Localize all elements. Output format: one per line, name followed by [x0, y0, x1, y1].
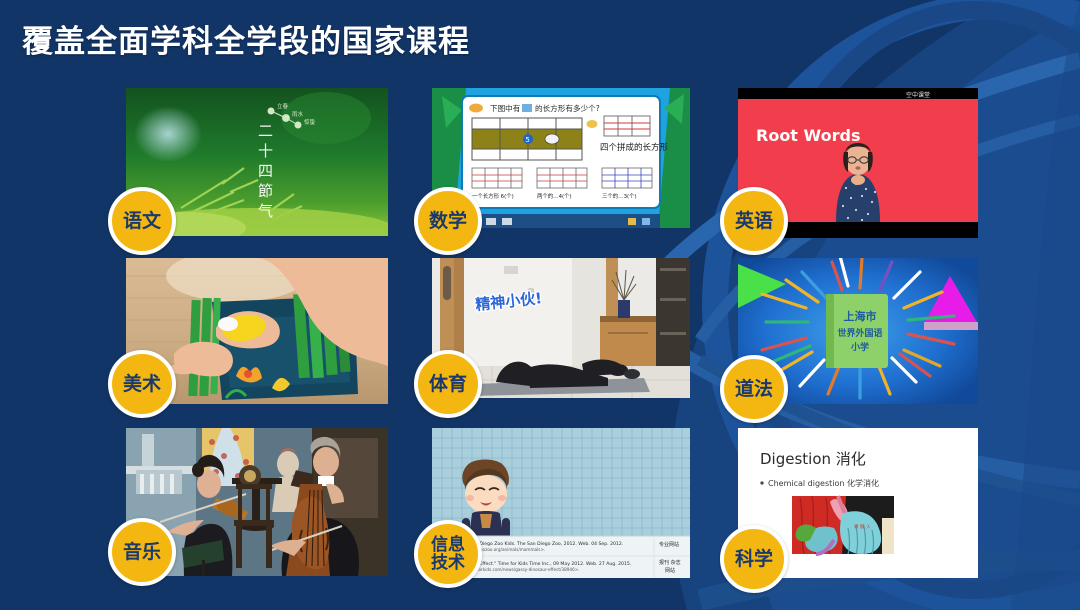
badge-label: 道法: [732, 379, 776, 399]
svg-text:三个的…3(个): 三个的…3(个): [602, 192, 637, 200]
badge-tiyu[interactable]: 体育: [414, 350, 482, 418]
svg-text:上海市: 上海市: [844, 309, 877, 323]
svg-text:立春: 立春: [277, 102, 289, 110]
svg-text:胃 酵 入: 胃 酵 入: [854, 524, 871, 530]
badge-label: 科学: [732, 549, 776, 569]
slide-canvas: 覆盖全面学科全学段的国家课程: [0, 0, 1080, 610]
badge-yinyue[interactable]: 音乐: [108, 518, 176, 586]
svg-text:Digestion 消化: Digestion 消化: [760, 450, 866, 468]
svg-text:网站: 网站: [665, 567, 675, 574]
badge-yuwen[interactable]: 语文: [108, 187, 176, 255]
svg-text:四: 四: [258, 162, 273, 180]
svg-text:世界外国语: 世界外国语: [837, 327, 882, 339]
svg-text:下图中有: 下图中有: [490, 103, 521, 113]
svg-text:报刊 杂志: 报刊 杂志: [659, 559, 681, 566]
badge-kexue[interactable]: 科学: [720, 525, 788, 593]
svg-text:惊蛰: 惊蛰: [304, 118, 316, 126]
svg-text:专业网站: 专业网站: [659, 541, 679, 548]
badge-label: 音乐: [120, 542, 164, 562]
svg-text:的长方形有多少个?: 的长方形有多少个?: [535, 103, 600, 113]
svg-text:小学: 小学: [850, 341, 869, 353]
subject-card-grid: 二十 四節 气 立春 雨水 惊蛰 语文: [0, 0, 1080, 610]
svg-text:Root Words: Root Words: [756, 126, 860, 145]
badge-xinxi[interactable]: 信息技术: [414, 520, 482, 588]
svg-text:空中课堂: 空中课堂: [906, 91, 930, 99]
svg-text:两个的…4(个): 两个的…4(个): [537, 192, 572, 200]
svg-text:十: 十: [258, 142, 273, 160]
badge-label: 语文: [120, 211, 164, 231]
badge-meishu[interactable]: 美术: [108, 350, 176, 418]
svg-text:气: 气: [258, 202, 273, 220]
svg-text:一个长方形 6(个): 一个长方形 6(个): [472, 192, 514, 200]
svg-text:雨水: 雨水: [292, 110, 304, 118]
svg-text:二: 二: [258, 122, 273, 140]
badge-label: 信息技术: [428, 536, 468, 572]
svg-text:四个拼成的长方形: 四个拼成的长方形: [600, 142, 669, 153]
badge-label: 美术: [120, 374, 164, 394]
badge-label: 数学: [426, 211, 470, 231]
svg-text:節: 節: [258, 182, 273, 200]
badge-yingyu[interactable]: 英语: [720, 187, 788, 255]
badge-label: 体育: [426, 374, 470, 394]
badge-daofa[interactable]: 道法: [720, 355, 788, 423]
svg-text:Chemical digestion 化学消化: Chemical digestion 化学消化: [768, 478, 879, 488]
badge-label: 英语: [732, 211, 776, 231]
badge-shuxue[interactable]: 数学: [414, 187, 482, 255]
svg-text:5: 5: [525, 136, 529, 144]
page-title: 覆盖全面学科全学段的国家课程: [22, 16, 470, 61]
